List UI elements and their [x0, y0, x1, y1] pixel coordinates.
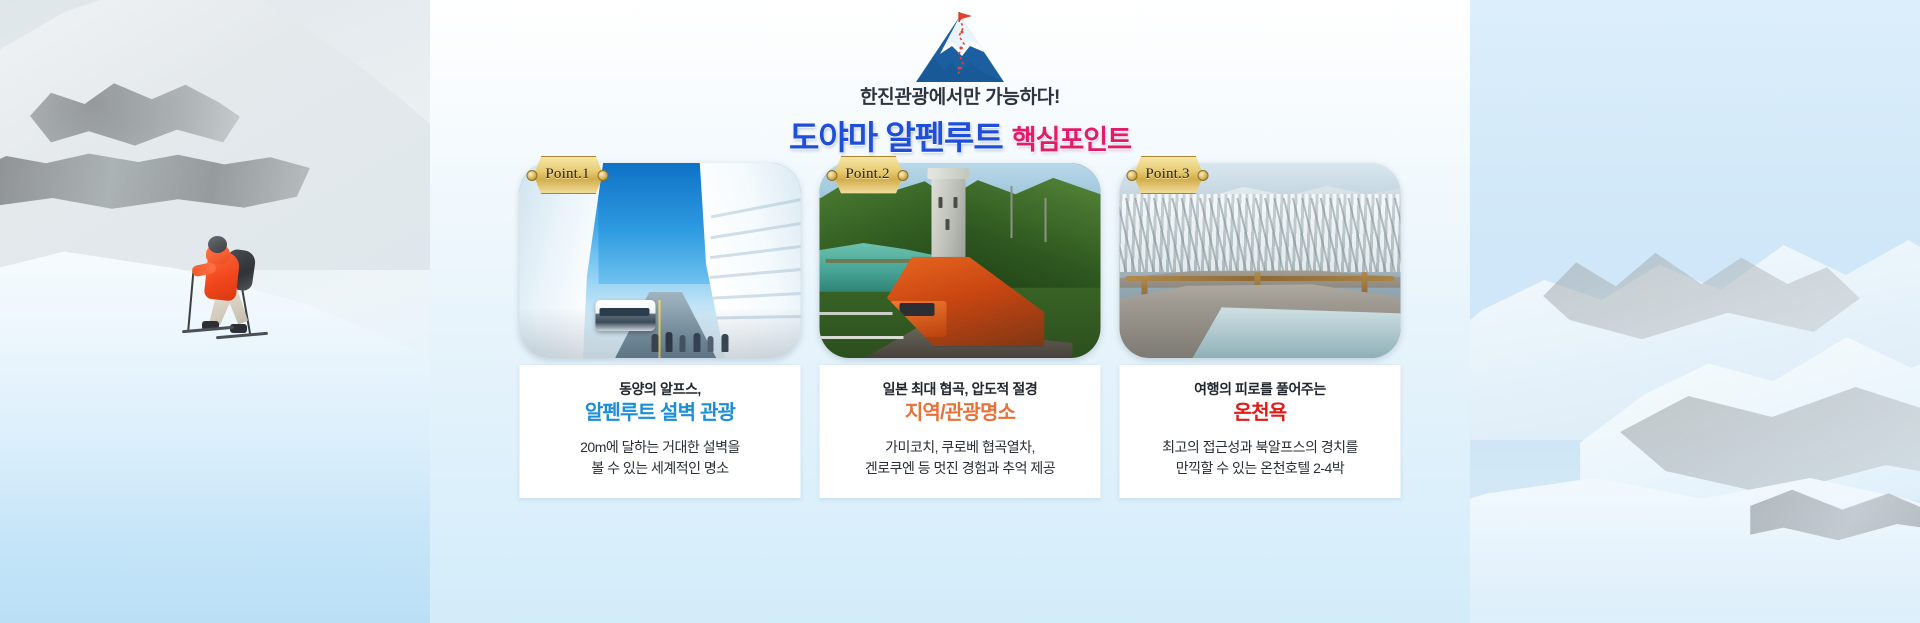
badge-point-1: Point.1	[526, 156, 610, 192]
snow-stripe	[709, 292, 800, 300]
tower-slit	[946, 219, 950, 230]
caption-title: 지역/관광명소	[830, 401, 1091, 425]
desc-line-1: 20m에 달하는 거대한 설벽을	[580, 439, 740, 455]
snow-stripe	[710, 222, 800, 239]
badge-label: Point.3	[1134, 156, 1202, 192]
headline-main: 도야마 알펜루트	[789, 119, 1003, 156]
desc-line-2: 겐로쿠엔 등 멋진 경험과 추억 제공	[865, 460, 1055, 476]
point-card-1[interactable]: Point.1	[520, 163, 801, 498]
card-caption-2: 일본 최대 협곡, 압도적 절경 지역/관광명소 가미코치, 쿠로베 협곡열차,…	[820, 365, 1101, 498]
page-title: 도야마 알펜루트핵심포인트	[0, 111, 1920, 159]
point-cards: Point.1	[520, 163, 1401, 498]
caption-subtitle: 일본 최대 협곡, 압도적 절경	[830, 381, 1091, 399]
mountain-peak-flag-icon	[900, 12, 1020, 90]
desc-line-2: 볼 수 있는 세계적인 명소	[591, 460, 728, 476]
photo2-guard-fence	[820, 312, 893, 315]
snow-stripe	[710, 245, 801, 259]
promo-banner: 한진관광에서만 가능하다! 도야마 알펜루트핵심포인트 Point.1	[0, 0, 1920, 623]
badge-point-3: Point.3	[1126, 156, 1210, 192]
photo2-catenary-pole	[1011, 186, 1013, 238]
caption-subtitle: 동양의 알프스,	[530, 381, 791, 399]
kicker-text: 한진관광에서만 가능하다!	[0, 82, 1920, 109]
snow-stripe	[709, 268, 800, 279]
headline-sub: 핵심포인트	[1012, 125, 1131, 155]
caption-title: 온천욕	[1130, 401, 1391, 425]
train-window	[900, 303, 935, 316]
snow-stripe	[711, 198, 801, 218]
center-content: 한진관광에서만 가능하다! 도야마 알펜루트핵심포인트 Point.1	[0, 0, 1920, 623]
caption-description: 20m에 달하는 거대한 설벽을 볼 수 있는 세계적인 명소	[530, 437, 791, 480]
photo1-foreground-shadow	[520, 307, 801, 358]
tower-slit	[939, 197, 943, 208]
desc-line-1: 최고의 접근성과 북알프스의 경치를	[1162, 439, 1358, 455]
badge-point-2: Point.2	[826, 156, 910, 192]
photo3-hot-spring-water	[1193, 307, 1401, 358]
card-caption-3: 여행의 피로를 풀어주는 온천욕 최고의 접근성과 북알프스의 경치를 만끽할 …	[1120, 365, 1401, 498]
desc-line-2: 만끽할 수 있는 온천호텔 2-4박	[1176, 460, 1344, 476]
photo2-catenary-pole	[1044, 198, 1046, 242]
point-card-2[interactable]: Point.2	[820, 163, 1101, 498]
caption-description: 최고의 접근성과 북알프스의 경치를 만끽할 수 있는 온천호텔 2-4박	[1130, 437, 1391, 480]
card-caption-1: 동양의 알프스, 알펜루트 설벽 관광 20m에 달하는 거대한 설벽을 볼 수…	[520, 365, 801, 498]
photo2-stone-tower	[932, 175, 966, 261]
photo2-guard-fence	[820, 336, 904, 339]
badge-label: Point.2	[834, 156, 902, 192]
tower-slit	[954, 197, 958, 208]
point-card-3[interactable]: Point.3 여행의 피로를 풀어주는	[1120, 163, 1401, 498]
caption-title: 알펜루트 설벽 관광	[530, 401, 791, 425]
badge-label: Point.1	[534, 156, 602, 192]
caption-description: 가미코치, 쿠로베 협곡열차, 겐로쿠엔 등 멋진 경험과 추억 제공	[830, 437, 1091, 480]
desc-line-1: 가미코치, 쿠로베 협곡열차,	[885, 439, 1035, 455]
tower-crown	[928, 168, 970, 179]
caption-subtitle: 여행의 피로를 풀어주는	[1130, 381, 1391, 399]
